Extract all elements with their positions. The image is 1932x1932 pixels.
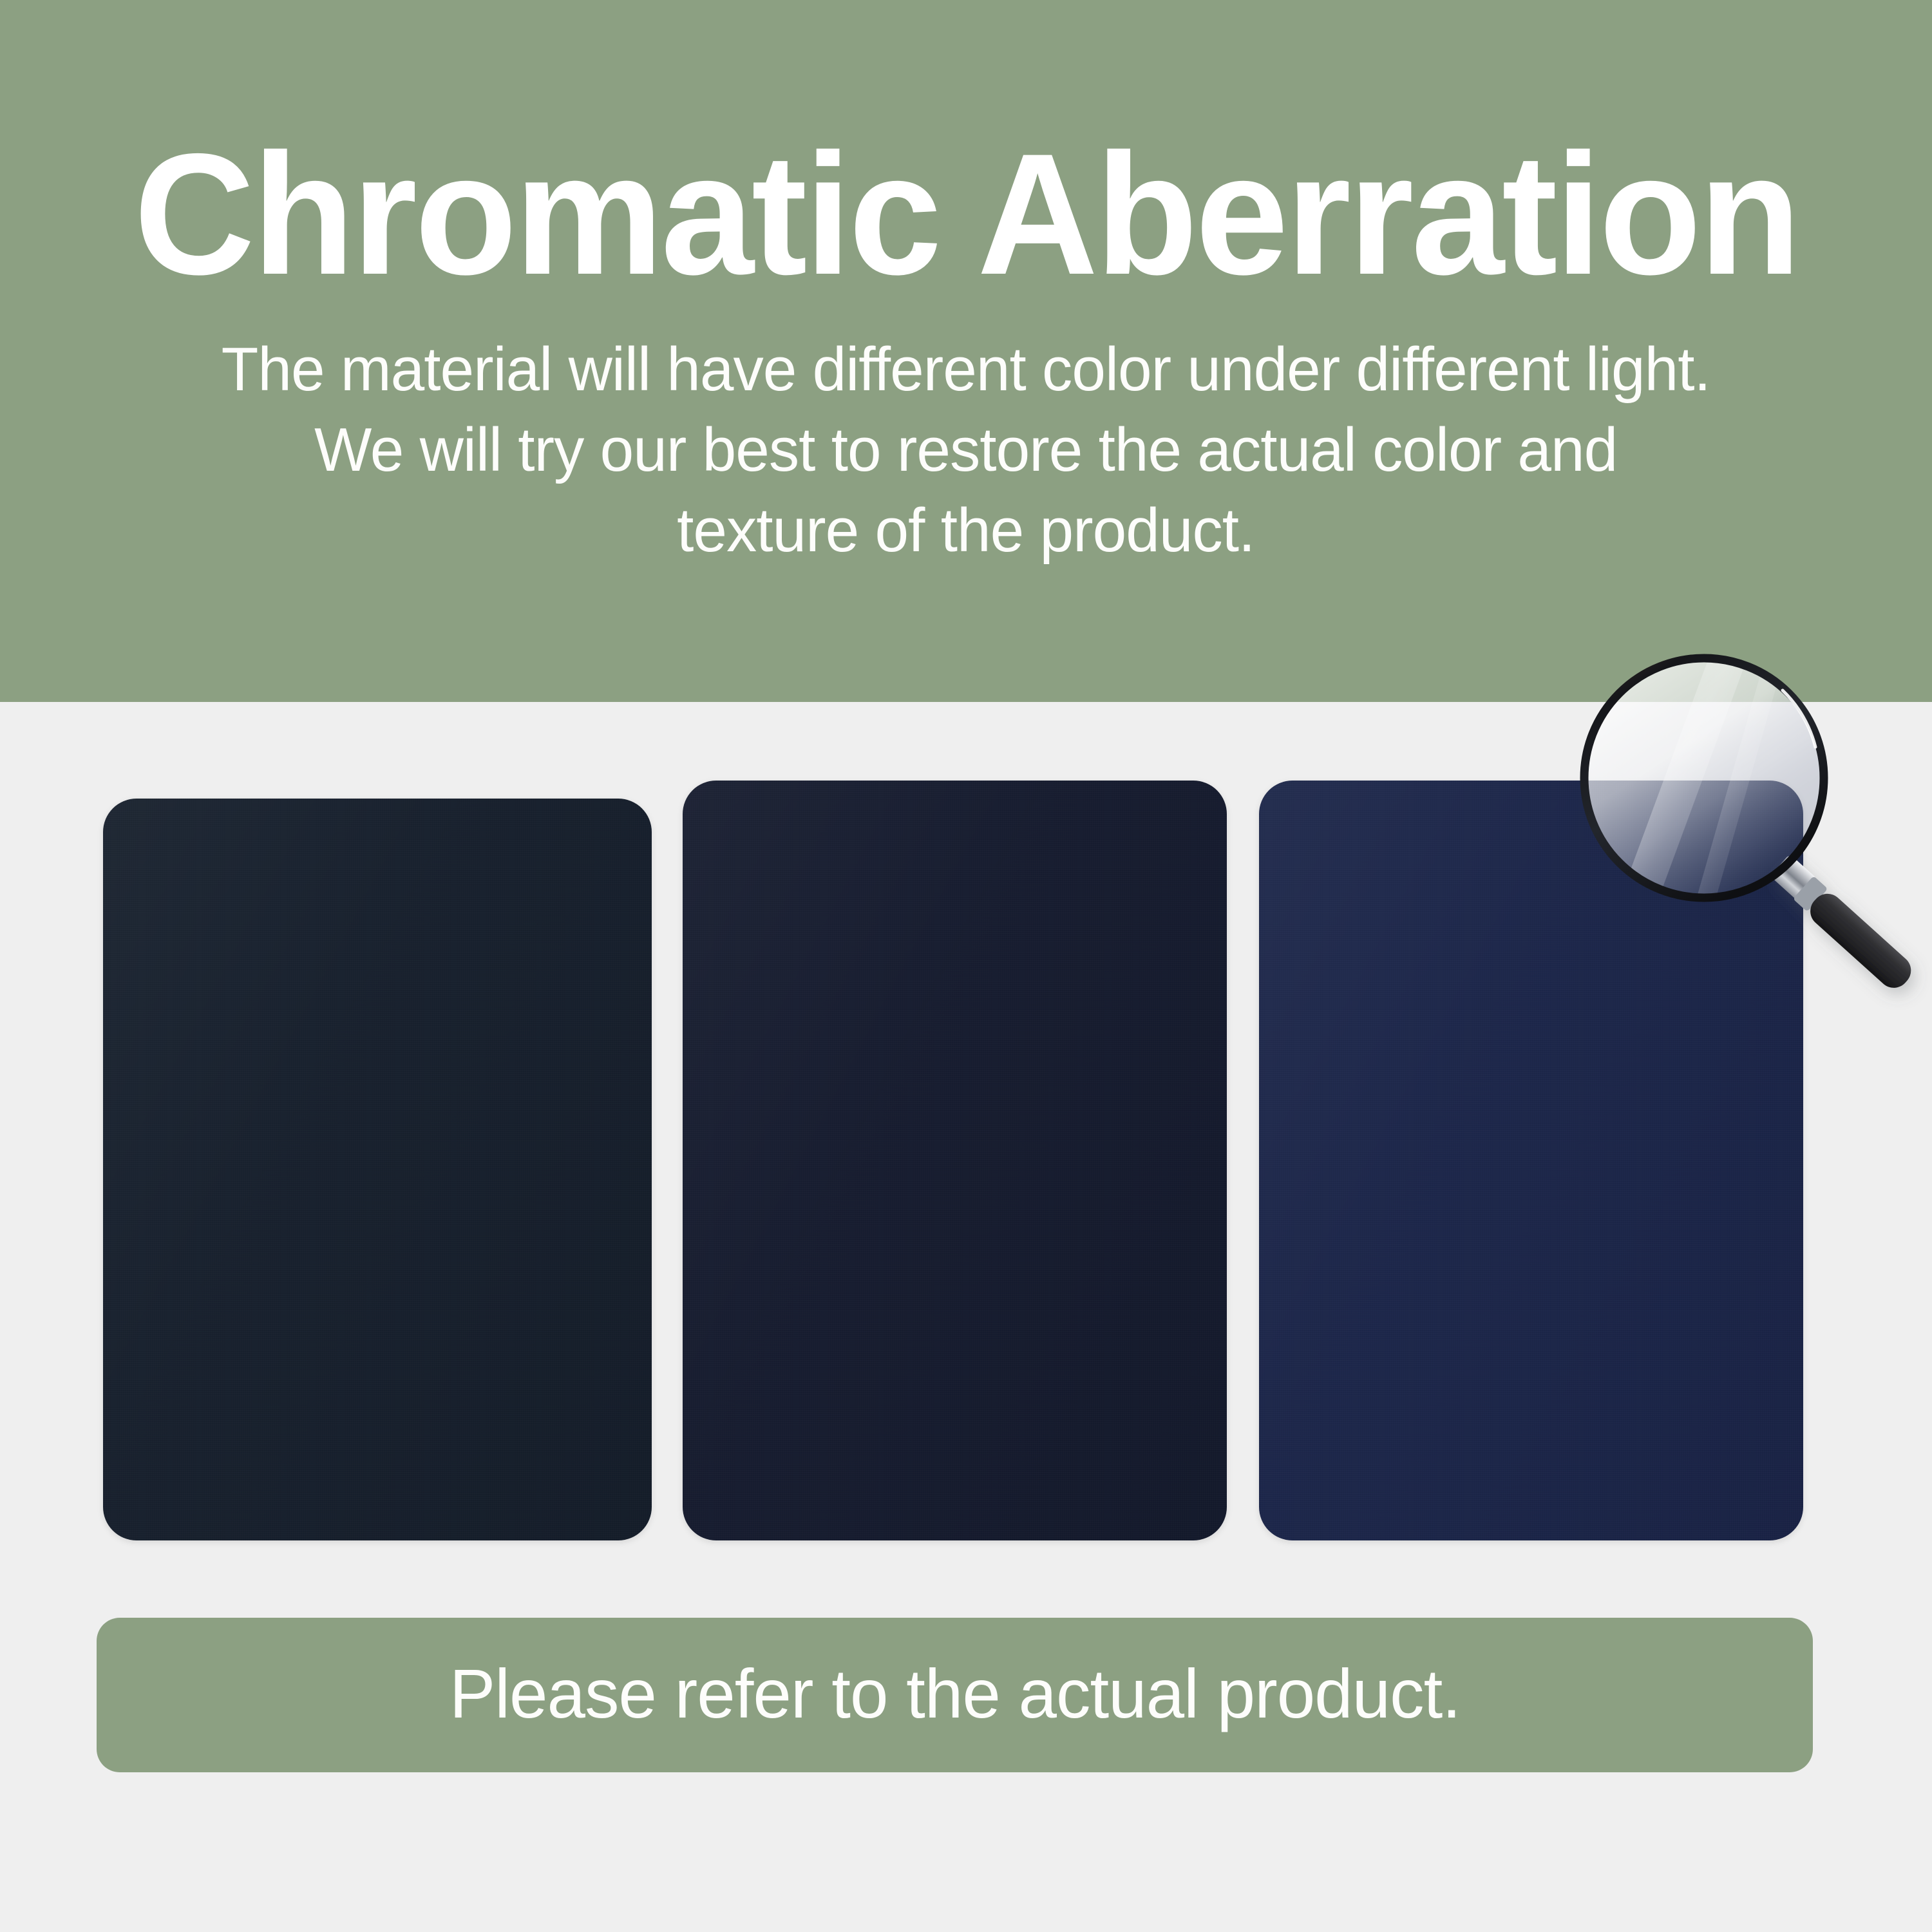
page-title: Chromatic Aberration xyxy=(134,128,1799,300)
swatch-texture xyxy=(683,781,1227,1540)
page-subtitle: The material will have different color u… xyxy=(222,330,1710,571)
header-content: Chromatic Aberration The material will h… xyxy=(0,0,1932,571)
subtitle-line-1: The material will have different color u… xyxy=(222,335,1710,404)
magnifier-handle xyxy=(1770,854,1917,994)
magnifying-glass-icon xyxy=(1578,650,1932,1050)
chromatic-aberration-poster: Chromatic Aberration The material will h… xyxy=(0,0,1932,1932)
footer-banner-text: Please refer to the actual product. xyxy=(449,1653,1460,1734)
subtitle-line-2: We will try our best to restore the actu… xyxy=(314,415,1617,484)
color-swatch-2[interactable] xyxy=(683,781,1227,1540)
header-band: Chromatic Aberration The material will h… xyxy=(0,0,1932,702)
swatch-sheen xyxy=(683,781,1227,1540)
swatch-sheen xyxy=(103,799,652,1540)
subtitle-line-3: texture of the product. xyxy=(677,496,1255,565)
color-swatch-1[interactable] xyxy=(103,799,652,1540)
swatch-texture xyxy=(103,799,652,1540)
footer-banner: Please refer to the actual product. xyxy=(97,1618,1813,1772)
